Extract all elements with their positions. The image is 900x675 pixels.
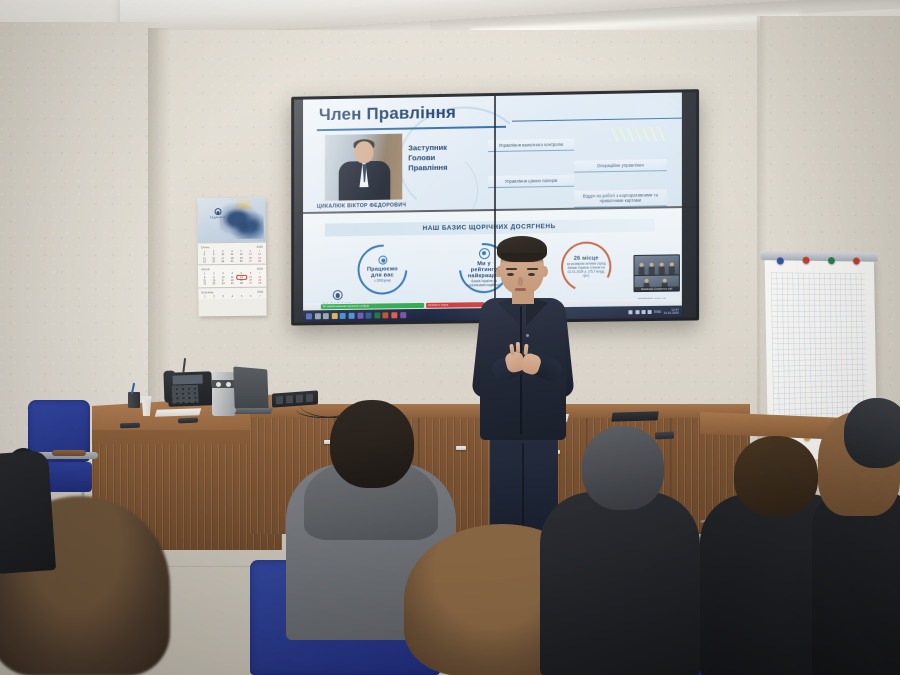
laptop[interactable] — [234, 368, 272, 414]
achievement-stat: Працюємо для вас з 1993 року — [349, 244, 417, 303]
calendar-day: 28 — [255, 282, 264, 285]
calendar-artwork: РАДАБАНК — [197, 198, 265, 243]
video-call-label: Radabank Conference call — [634, 287, 678, 292]
chair-arm-pad — [52, 450, 86, 456]
org-box: Відділ по роботі з корпоративними та при… — [574, 189, 667, 207]
org-box: Управління цінних паперів — [488, 175, 574, 188]
presenter-zipper-pull — [526, 334, 529, 337]
onedrive-icon[interactable] — [635, 310, 639, 314]
calendar-day: 1 — [200, 295, 209, 298]
org-box: Управління валютного контролю — [488, 139, 574, 152]
radabank-logo-icon — [214, 208, 221, 215]
network-icon[interactable] — [641, 310, 645, 314]
calendar-day: 3 — [219, 295, 228, 298]
word-icon[interactable] — [366, 313, 372, 319]
calendar-day: 5 — [237, 294, 246, 297]
calendar-day: 26 — [237, 282, 246, 285]
backpack — [0, 450, 56, 574]
calendar-month-block: Січень 2025 1234567891011121314151617181… — [198, 242, 266, 265]
laptop-lid — [233, 366, 268, 411]
calendar-day: 28 — [255, 260, 264, 263]
taskbar-language[interactable]: ENG — [654, 310, 661, 314]
magnet[interactable] — [853, 257, 860, 264]
org-box: Операційне управління — [574, 159, 667, 172]
calendar-day: 25 — [228, 282, 237, 285]
excel-icon[interactable] — [374, 312, 380, 318]
attendee-torso — [812, 492, 900, 675]
slide-role-title: Заступник Голови Правління — [408, 142, 470, 173]
display-left-bezel — [294, 100, 303, 323]
volume-icon[interactable] — [648, 310, 652, 314]
calendar-day: 2 — [210, 295, 219, 298]
tv-remote[interactable] — [120, 423, 140, 429]
calendar-day: 27 — [246, 260, 255, 263]
edge-icon[interactable] — [340, 313, 346, 319]
calendar-day: 24 — [219, 282, 228, 285]
attendee-head — [734, 436, 818, 516]
presenter-mouth — [515, 288, 526, 291]
attendee-far-right — [844, 398, 900, 468]
slide-title: Член Правління — [319, 103, 456, 125]
pen-holder[interactable] — [128, 392, 140, 408]
calendar-brand: РАДАБАНК — [202, 208, 232, 219]
video-call-panel[interactable]: Radabank Conference call — [633, 254, 679, 292]
slide-tick-decoration — [609, 127, 665, 142]
phone-keypad[interactable] — [172, 385, 199, 404]
calendar-month-block: Лютий 2025 12345678910111213141516171819… — [198, 264, 266, 287]
calendar-day-grid: 1234567891011121314151617181920212223242… — [200, 250, 264, 264]
board-member-portrait — [325, 134, 402, 201]
viber-icon[interactable] — [400, 312, 406, 318]
magnet[interactable] — [803, 257, 810, 264]
calendar-day: 7 — [256, 294, 265, 297]
start-icon[interactable] — [306, 313, 312, 319]
explorer-icon[interactable] — [332, 313, 338, 319]
attendee-head — [844, 398, 900, 468]
calendar-day: 27 — [246, 282, 255, 285]
display-right-bezel — [682, 92, 696, 317]
calendar-day: 23 — [209, 260, 218, 263]
calendar-day: 23 — [209, 283, 218, 286]
calendar-day: 4 — [228, 294, 237, 297]
conference-speakerphone[interactable] — [212, 372, 236, 416]
calendar-day-grid: 1234567 — [200, 294, 264, 298]
tablet-device[interactable] — [611, 411, 659, 421]
cabinet-handle[interactable] — [456, 446, 466, 450]
taskbar-icons[interactable] — [306, 312, 406, 319]
chevron-up-icon[interactable] — [629, 310, 633, 314]
ip-desk-phone[interactable] — [167, 371, 212, 407]
taskbar-clock[interactable]: 12:47 21.01.2025 — [664, 308, 679, 315]
task-view-icon[interactable] — [323, 313, 329, 319]
calendar-day: 22 — [200, 260, 209, 263]
presenter-finger — [516, 342, 521, 353]
slide-top-rule — [512, 117, 682, 122]
attendee-black-jacket-left — [540, 426, 700, 675]
presenter-nose — [518, 277, 523, 286]
video-call-tile[interactable] — [634, 255, 678, 275]
attendee-head — [330, 400, 414, 488]
calendar-month-block: Березень 2025 1234567 — [198, 286, 266, 299]
teams-icon[interactable] — [357, 313, 363, 319]
calendar-day-grid: 1234567891011121314151617181920212223242… — [200, 272, 264, 286]
magnet[interactable] — [777, 257, 784, 264]
radabank-logo-icon — [378, 256, 387, 265]
attendee-head — [582, 426, 664, 510]
calendar-day: 26 — [237, 260, 246, 263]
attendee-torso — [540, 492, 700, 675]
calendar-day: 6 — [246, 294, 255, 297]
phone-screen — [173, 375, 203, 385]
magnet[interactable] — [828, 257, 835, 264]
search-icon[interactable] — [315, 313, 321, 319]
chrome-icon[interactable] — [391, 312, 397, 318]
taskbar-tray[interactable]: ENG 12:47 21.01.2025 — [629, 308, 679, 315]
calendar-day: 25 — [228, 260, 237, 263]
calendar-day: 24 — [218, 260, 227, 263]
slide-upper-region: Член Правління Заступник Голови Правлінн… — [303, 92, 682, 212]
mail-icon[interactable] — [349, 313, 355, 319]
laptop-base[interactable] — [235, 408, 274, 414]
calendar-day: 22 — [200, 283, 209, 286]
presenter-hair — [497, 236, 547, 262]
tv-remote[interactable] — [178, 417, 198, 423]
conference-room-photo: РАДАБАНК Січень 2025 1234567891011121314… — [0, 0, 900, 675]
powerpoint-icon[interactable] — [383, 312, 389, 318]
video-call-tile[interactable]: Radabank Conference call — [634, 275, 678, 291]
radabank-logo-icon — [332, 290, 342, 300]
calendar-day: 5 — [237, 272, 246, 275]
wall-calendar: РАДАБАНК Січень 2025 1234567891011121314… — [197, 198, 266, 317]
